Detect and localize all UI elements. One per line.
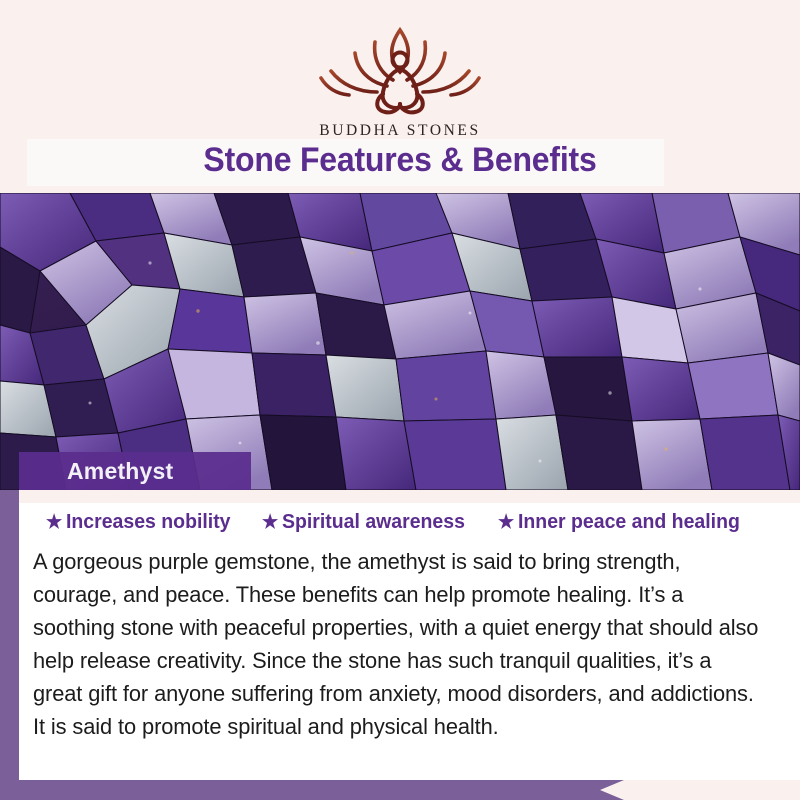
- star-icon: ★: [262, 513, 278, 532]
- benefits-list: ★ Increases nobility ★ Spiritual awarene…: [19, 510, 779, 534]
- brand-name: BUDDHA STONES: [0, 122, 800, 140]
- content-top-spacer: [19, 490, 800, 503]
- benefit-label: Inner peace and healing: [518, 510, 740, 534]
- infographic-card: BUDDHA STONES Stone Features & Benefits: [0, 0, 800, 800]
- frame-left-bar: [0, 490, 19, 780]
- brand-logo: BUDDHA STONES: [0, 22, 800, 140]
- star-icon: ★: [46, 513, 62, 532]
- amethyst-crystal-cluster-icon: [0, 193, 800, 490]
- stone-name-label: Amethyst: [19, 458, 173, 485]
- stone-description: A gorgeous purple gemstone, the amethyst…: [33, 545, 762, 743]
- benefit-item: ★ Spiritual awareness: [262, 510, 465, 534]
- benefit-item: ★ Inner peace and healing: [498, 510, 740, 534]
- frame-bottom-bar: [0, 780, 600, 800]
- amethyst-photo: [0, 193, 800, 490]
- content-panel: ★ Increases nobility ★ Spiritual awarene…: [19, 490, 800, 780]
- frame-bottom-chevron-icon: [600, 780, 624, 800]
- benefit-item: ★ Increases nobility: [46, 510, 231, 534]
- benefit-label: Spiritual awareness: [282, 510, 465, 534]
- star-icon: ★: [498, 513, 514, 532]
- page-title: Stone Features & Benefits: [24, 141, 776, 180]
- benefit-label: Increases nobility: [66, 510, 231, 534]
- stone-name-banner: Amethyst: [19, 452, 251, 490]
- title-band: Stone Features & Benefits: [27, 139, 664, 186]
- lotus-meditation-figure-icon: [305, 22, 495, 120]
